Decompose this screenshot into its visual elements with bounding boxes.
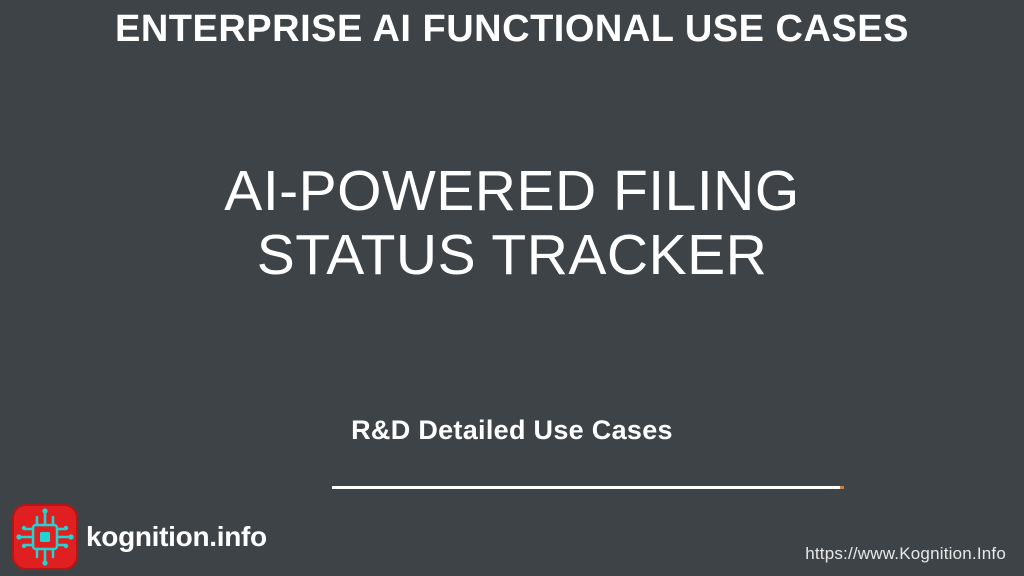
divider-rule: [332, 486, 844, 489]
divider-rule-white-segment: [332, 486, 840, 489]
circuit-chip-icon: [12, 504, 78, 570]
brand-lockup: kognition.info: [12, 504, 267, 570]
page-title-line-1: AI-POWERED FILING: [224, 159, 799, 223]
page-subtitle: R&D Detailed Use Cases: [0, 415, 1024, 446]
footer-url: https://www.Kognition.Info: [805, 544, 1006, 564]
title-slide: ENTERPRISE AI FUNCTIONAL USE CASES AI-PO…: [0, 0, 1024, 576]
slide-kicker: ENTERPRISE AI FUNCTIONAL USE CASES: [0, 8, 1024, 52]
page-title-line-2: STATUS TRACKER: [0, 224, 1024, 288]
brand-name: kognition.info: [86, 521, 267, 553]
page-title: AI-POWERED FILING STATUS TRACKER: [0, 160, 1024, 288]
divider-rule-accent-segment: [840, 486, 844, 489]
